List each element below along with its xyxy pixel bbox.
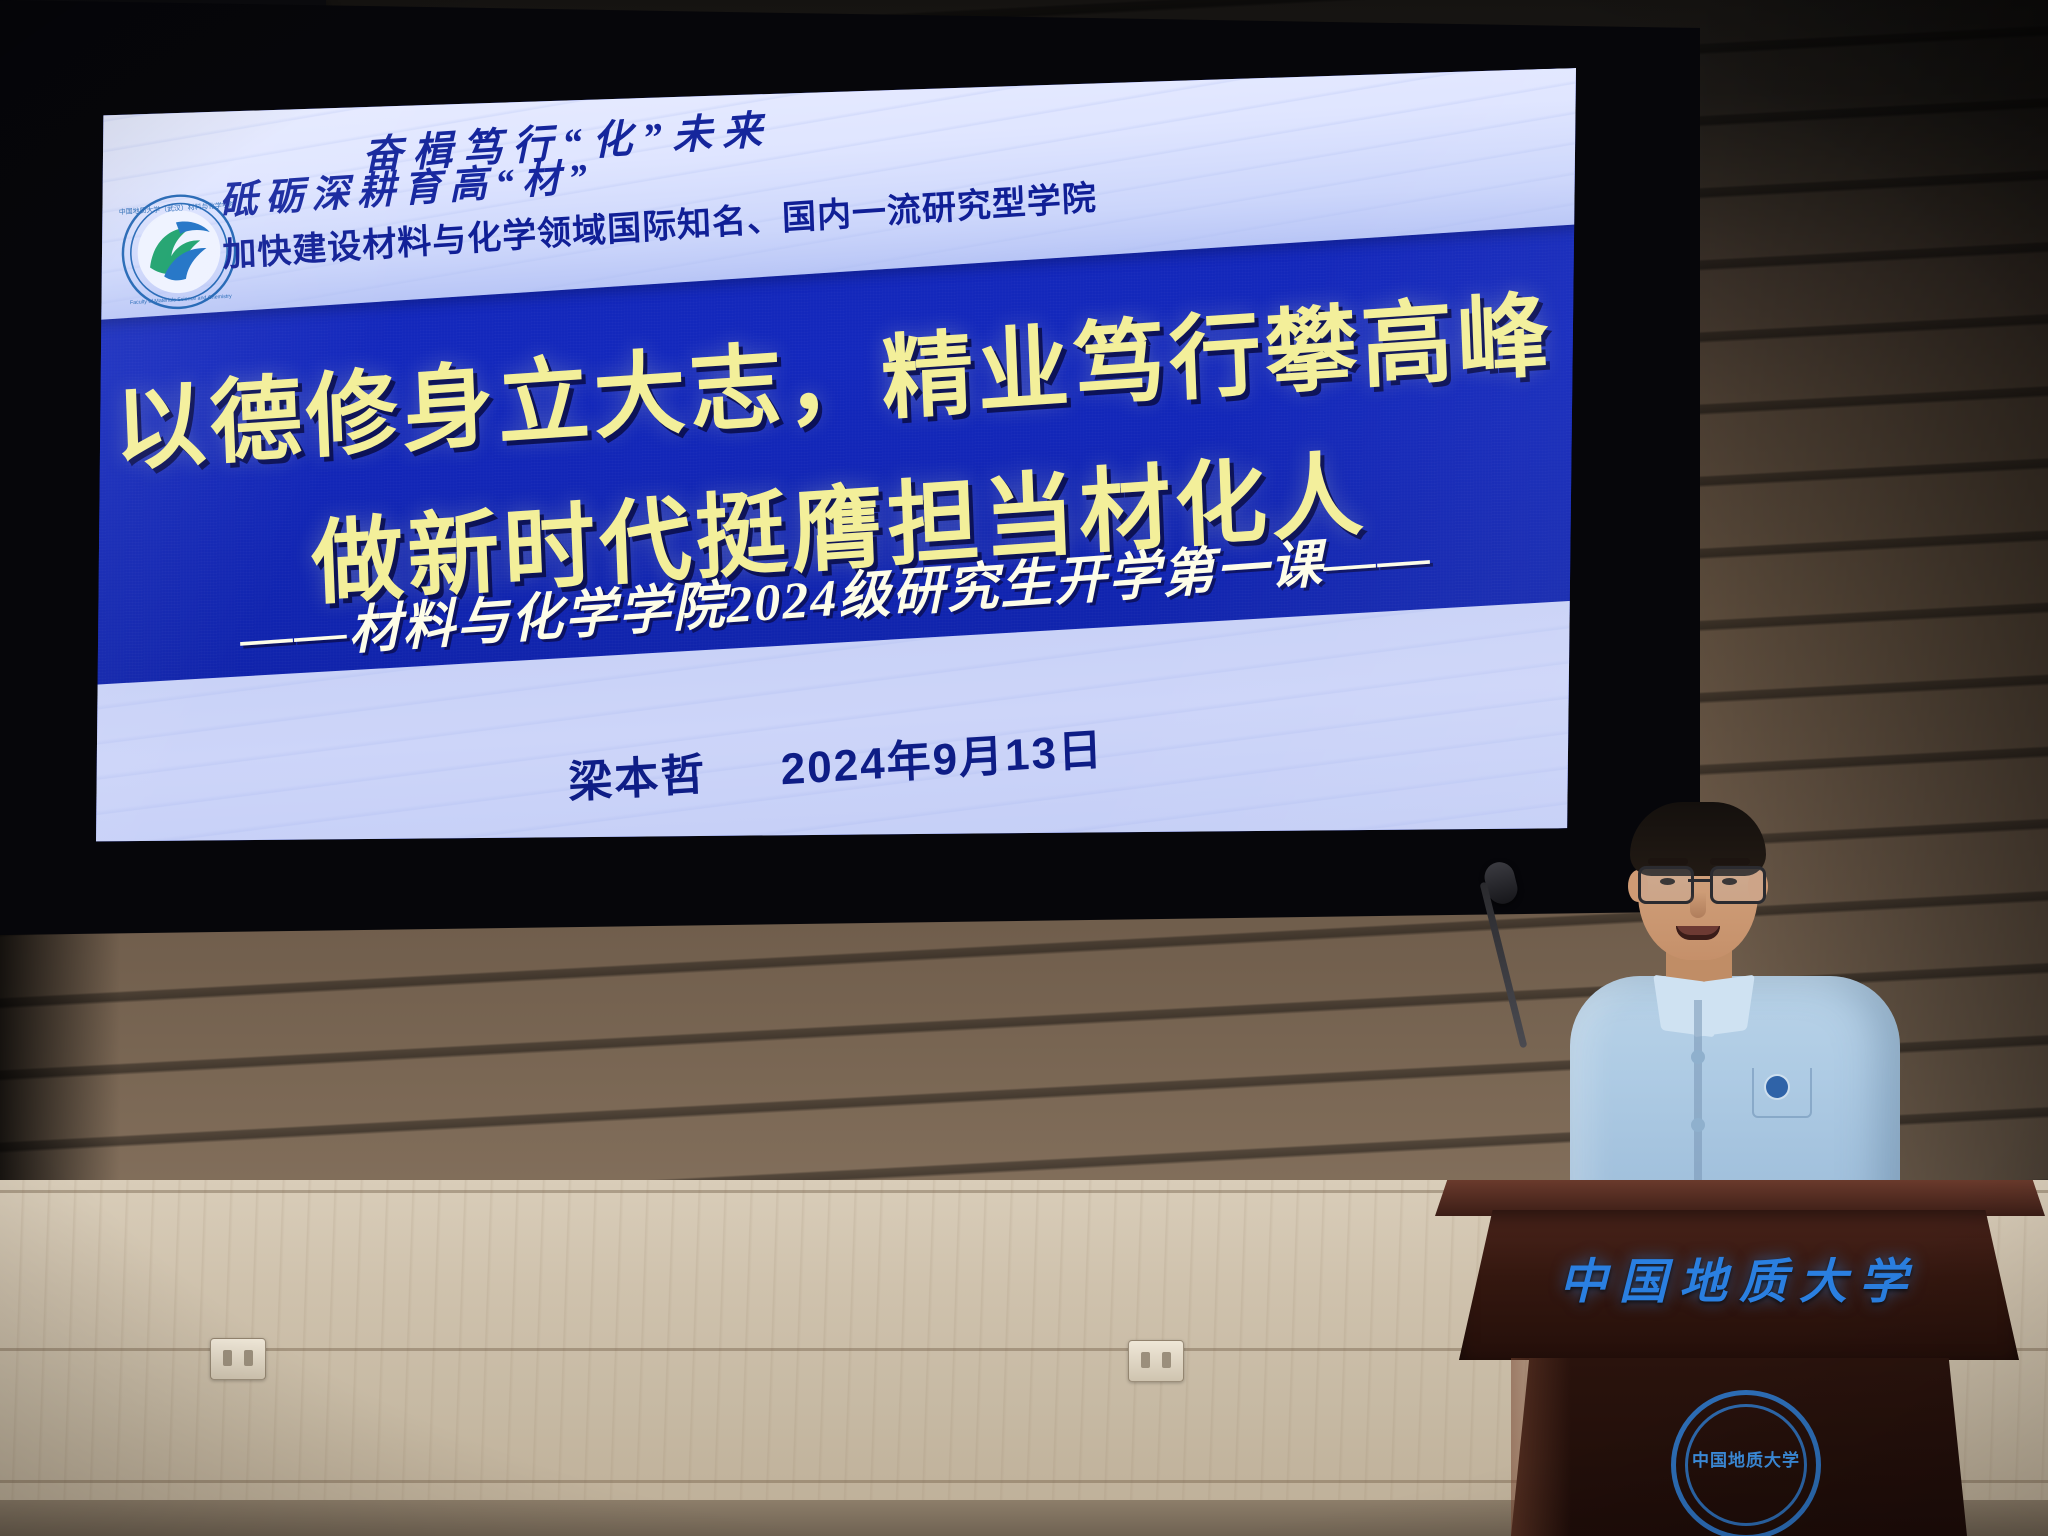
speaker-collar-right [1693, 975, 1755, 1038]
wall-socket-right[interactable] [1128, 1340, 1184, 1382]
wall-socket-left[interactable] [210, 1338, 266, 1380]
presenter-gap [721, 785, 767, 788]
led-screen: 中国地质大学（武汉）材料与化学学院 Faculty of Materials S… [0, 0, 1700, 935]
eyeglasses-lens-right [1710, 866, 1766, 904]
eyeglasses-bridge [1688, 879, 1710, 882]
lectern-podium: 中国地质大学 中国地质大学 [1435, 1180, 2045, 1536]
presenter-name: 梁本哲 [568, 750, 708, 807]
speaker-badge-icon [1766, 1076, 1788, 1098]
podium-base-highlight [1511, 1358, 1571, 1536]
presentation-slide: 中国地质大学（武汉）材料与化学学院 Faculty of Materials S… [96, 68, 1576, 868]
speaker-shirt-button-1 [1691, 1050, 1705, 1064]
lecture-hall-scene: 材料与化 中国地质大学（武汉）材料与化学学院 F [0, 0, 2048, 1536]
speaker-shirt-button-2 [1691, 1118, 1705, 1132]
university-seal-icon: 中国地质大学 [1671, 1390, 1821, 1536]
speaker-nose [1690, 892, 1706, 918]
speaker-eyebrow-right [1710, 858, 1750, 865]
podium-university-name: 中国地质大学 [1459, 1242, 2019, 1312]
eyeglasses-lens-left [1638, 866, 1694, 904]
speaker-eyebrow-left [1648, 858, 1688, 865]
speaker-person [1570, 800, 1900, 1220]
seal-label: 中国地质大学 [1671, 1446, 1821, 1471]
